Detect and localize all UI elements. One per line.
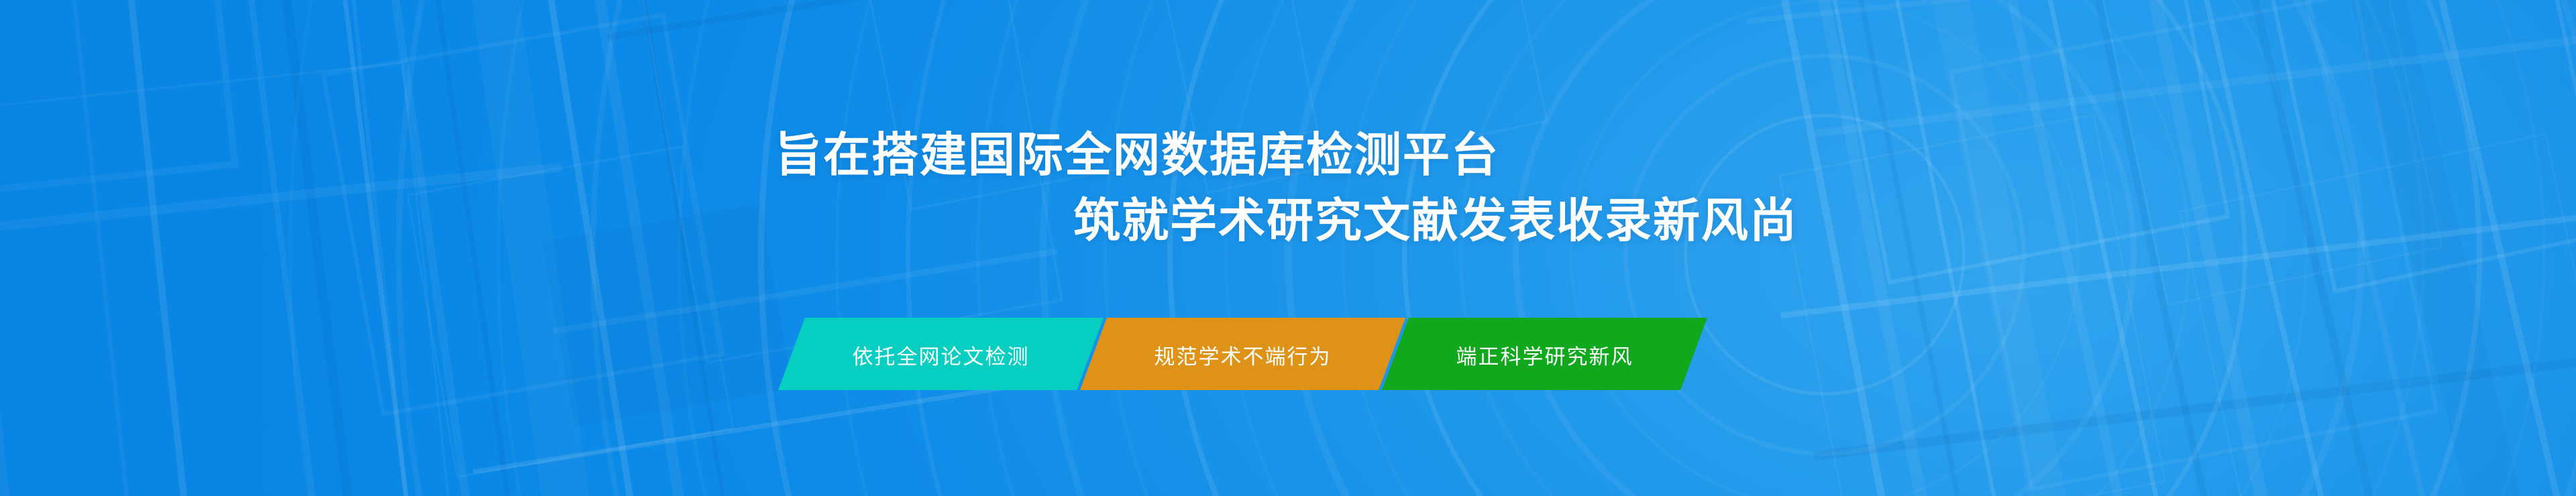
concentric-rings-decoration: [0, 0, 2576, 496]
headline-line-1: 旨在搭建国际全网数据库检测平台: [775, 131, 1499, 178]
badge-thesis-detection-label: 依托全网论文检测: [849, 340, 1034, 370]
background-gradient: [0, 0, 2576, 496]
badge-research-ethics-label: 端正科学研究新风: [1452, 340, 1638, 370]
feature-badge-strip: 依托全网论文检测 规范学术不端行为 端正科学研究新风: [778, 318, 1707, 390]
badge-academic-misconduct[interactable]: 规范学术不端行为: [1080, 318, 1405, 390]
headline-line-2: 筑就学术研究文献发表收录新风尚: [1073, 197, 1798, 244]
badge-academic-misconduct-label: 规范学术不端行为: [1150, 340, 1336, 370]
blueprint-frames-decoration: [0, 0, 2576, 496]
promo-banner: 旨在搭建国际全网数据库检测平台 筑就学术研究文献发表收录新风尚 依托全网论文检测…: [0, 0, 2576, 496]
background-vignette: [0, 0, 2576, 496]
badge-research-ethics[interactable]: 端正科学研究新风: [1382, 318, 1707, 390]
banner-background: [0, 0, 2576, 496]
badge-thesis-detection[interactable]: 依托全网论文检测: [778, 318, 1104, 390]
